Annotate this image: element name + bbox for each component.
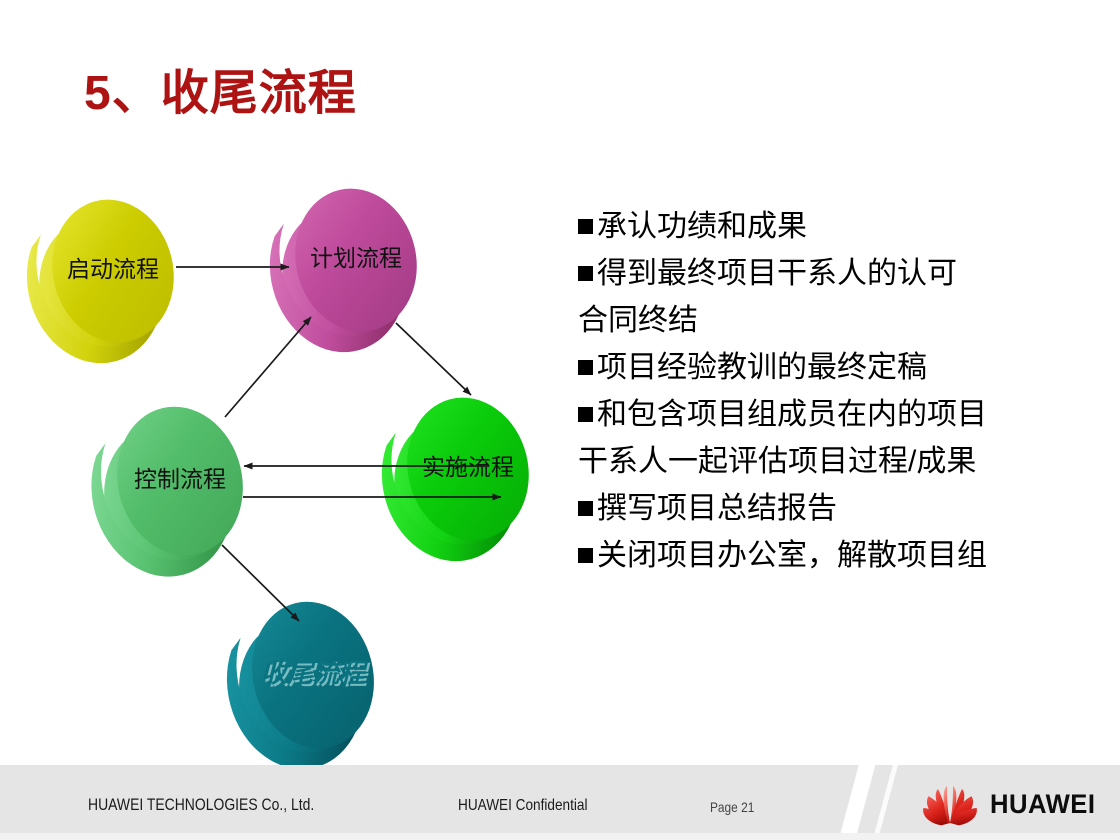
bullet-square-icon xyxy=(578,548,593,563)
bullet-square-icon xyxy=(578,501,593,516)
bullet-text: 撰写项目总结报告 xyxy=(597,485,837,532)
bullet-text: 干系人一起评估项目过程/成果 xyxy=(578,438,976,485)
process-cycle-diagram: 启动流程 计划流程 实施流程 控制流程 xyxy=(0,0,600,790)
bullet-text: 关闭项目办公室，解散项目组 xyxy=(597,532,987,579)
node-initiation-label: 启动流程 xyxy=(67,257,159,283)
footer-confidentiality-label: HUAWEI Confidential xyxy=(458,797,588,815)
bullet-square-icon xyxy=(578,360,593,375)
edge-control-to-closing xyxy=(222,545,299,621)
bullet-item: 撰写项目总结报告 xyxy=(578,485,1078,532)
footer-bottom-strip xyxy=(0,833,1120,840)
node-planning-label: 计划流程 xyxy=(310,246,402,272)
footer-company-name: HUAWEI TECHNOLOGIES Co., Ltd. xyxy=(88,795,314,815)
bullet-item: 得到最终项目干系人的认可 xyxy=(578,250,1078,297)
huawei-wordmark: HUAWEI xyxy=(990,789,1095,820)
bullet-square-icon xyxy=(578,266,593,281)
bullet-item-continuation: 合同终结 xyxy=(578,297,1078,344)
bullet-text: 和包含项目组成员在内的项目 xyxy=(597,391,987,438)
huawei-flower-icon xyxy=(917,782,983,826)
bullet-text: 承认功绩和成果 xyxy=(597,203,807,250)
bullet-list: 承认功绩和成果 得到最终项目干系人的认可 合同终结 项目经验教训的最终定稿 和包… xyxy=(578,203,1078,579)
node-implementation[interactable]: 实施流程 xyxy=(370,385,543,576)
bullet-text: 合同终结 xyxy=(578,297,698,344)
bullet-item: 承认功绩和成果 xyxy=(578,203,1078,250)
bullet-square-icon xyxy=(578,219,593,234)
slide-canvas: 5、收尾流程 xyxy=(0,0,1120,840)
node-planning[interactable]: 计划流程 xyxy=(258,176,431,367)
bullet-item-continuation: 干系人一起评估项目过程/成果 xyxy=(578,438,1078,485)
footer-diagonal-divider xyxy=(836,765,877,840)
node-closing-label: 收尾流程 xyxy=(261,659,369,689)
edge-control-to-planning xyxy=(225,317,311,417)
bullet-square-icon xyxy=(578,407,593,422)
node-control[interactable]: 控制流程 xyxy=(79,393,258,592)
node-initiation[interactable]: 启动流程 xyxy=(15,187,188,378)
bullet-item: 关闭项目办公室，解散项目组 xyxy=(578,532,1078,579)
footer-page-number: Page 21 xyxy=(710,799,754,815)
edge-planning-to-implementation xyxy=(396,323,471,395)
huawei-logo: HUAWEI xyxy=(917,781,1102,827)
node-control-label: 控制流程 xyxy=(134,467,226,493)
bullet-item: 和包含项目组成员在内的项目 xyxy=(578,391,1078,438)
bullet-text: 得到最终项目干系人的认可 xyxy=(597,250,957,297)
node-closing[interactable]: 收尾流程 收尾流程 xyxy=(215,589,389,784)
footer-diagonal-divider-thin xyxy=(870,765,901,840)
bullet-text: 项目经验教训的最终定稿 xyxy=(597,344,927,391)
bullet-item: 项目经验教训的最终定稿 xyxy=(578,344,1078,391)
node-implementation-label: 实施流程 xyxy=(422,455,514,481)
